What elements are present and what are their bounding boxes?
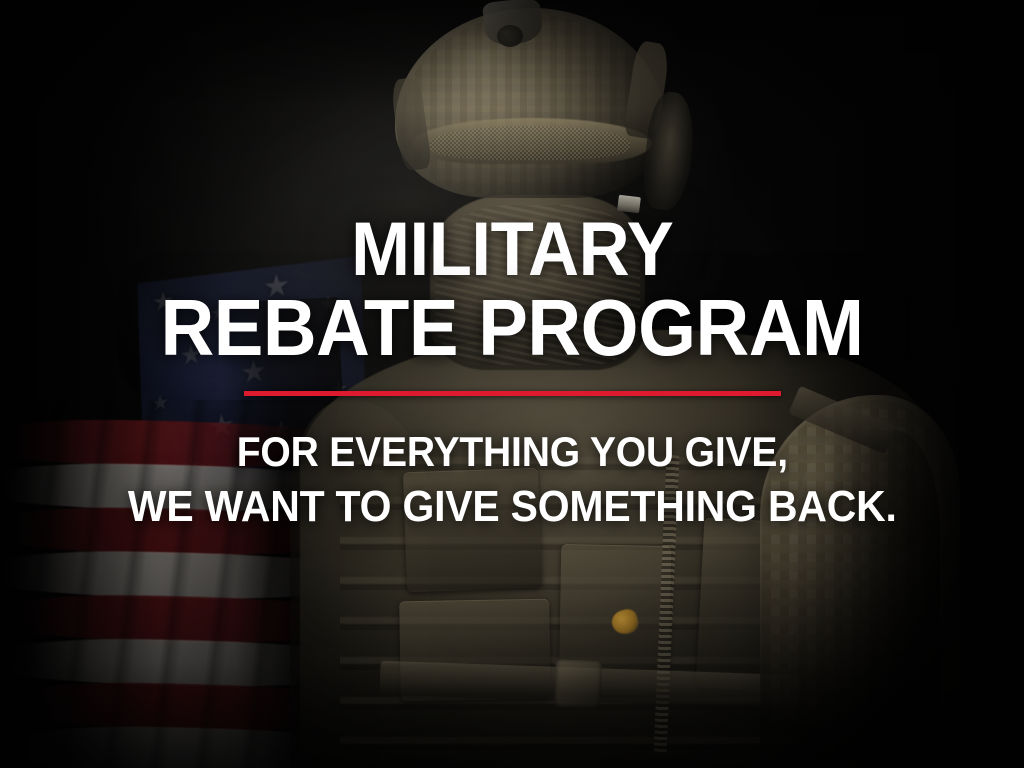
military-rebate-banner: ★ ★ ★ ★ ★ ★ ★ ★ ★ ★ ★ ★ (0, 0, 1024, 768)
subheadline-line-1: FOR EVERYTHING YOU GIVE, (236, 430, 787, 475)
headline-line-1: MILITARY (351, 213, 673, 287)
subheadline-line-2: WE WANT TO GIVE SOMETHING BACK. (128, 484, 897, 531)
headline-line-2: REBATE PROGRAM (160, 289, 863, 367)
text-overlay: MILITARY REBATE PROGRAM FOR EVERYTHING Y… (0, 0, 1024, 768)
red-divider-rule (244, 391, 781, 396)
